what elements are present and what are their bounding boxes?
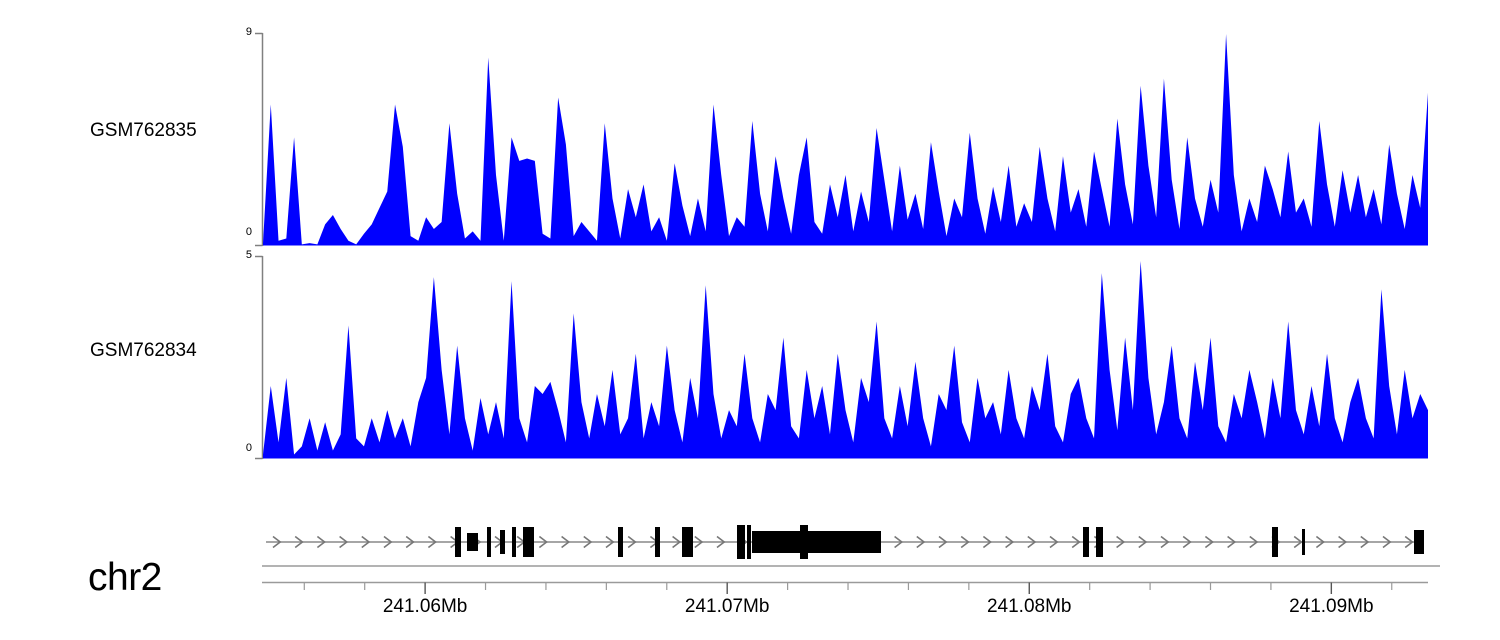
gene-model-plot[interactable] [250, 500, 1450, 580]
track1-area [263, 34, 1428, 246]
exon-block[interactable] [1083, 527, 1089, 557]
track2-ymin-label: 0 [228, 442, 252, 454]
exon-block[interactable] [487, 527, 491, 557]
track2-ymax-label: 5 [228, 249, 252, 261]
exon-block[interactable] [467, 533, 478, 551]
exon-block[interactable] [1302, 529, 1305, 555]
x-axis-tick-label: 241.08Mb [969, 596, 1089, 618]
exon-block[interactable] [1096, 527, 1103, 557]
track1-ymax-label: 9 [228, 26, 252, 38]
exon-block[interactable] [737, 525, 745, 559]
track-GSM762835: GSM762835 9 0 [0, 20, 1500, 240]
exon-block[interactable] [1272, 527, 1278, 557]
x-axis-tick-label: 241.06Mb [365, 596, 485, 618]
track2-plot[interactable] [250, 253, 1440, 468]
genome-browser: GSM762835 9 0 GSM762834 5 0 [0, 0, 1500, 640]
track1-ymin-label: 0 [228, 226, 252, 238]
track-label-1: GSM762835 [90, 120, 197, 142]
track-label-2: GSM762834 [90, 340, 197, 362]
track2-area [263, 261, 1428, 458]
track-GSM762834: GSM762834 5 0 [0, 245, 1500, 465]
track2-yaxis [255, 256, 263, 459]
track1-yaxis [255, 33, 263, 246]
exon-block[interactable] [655, 527, 660, 557]
exon-block[interactable] [682, 527, 693, 557]
exon-block[interactable] [808, 531, 881, 553]
exon-block[interactable] [618, 527, 623, 557]
x-axis: 241.06Mb241.07Mb241.08Mb241.09Mb [0, 580, 1500, 640]
exon-block[interactable] [747, 525, 751, 559]
exon-block[interactable] [500, 530, 505, 554]
exon-block[interactable] [800, 525, 808, 559]
gene-model-track [0, 500, 1500, 580]
gene-body [266, 525, 1424, 559]
x-axis-tick-label: 241.07Mb [667, 596, 787, 618]
exon-block[interactable] [752, 531, 800, 553]
exon-block[interactable] [1414, 530, 1424, 554]
exon-block[interactable] [523, 527, 534, 557]
exon-block[interactable] [455, 527, 461, 557]
exon-block[interactable] [512, 527, 516, 557]
track1-plot[interactable] [250, 30, 1440, 255]
x-axis-tick-label: 241.09Mb [1271, 596, 1391, 618]
